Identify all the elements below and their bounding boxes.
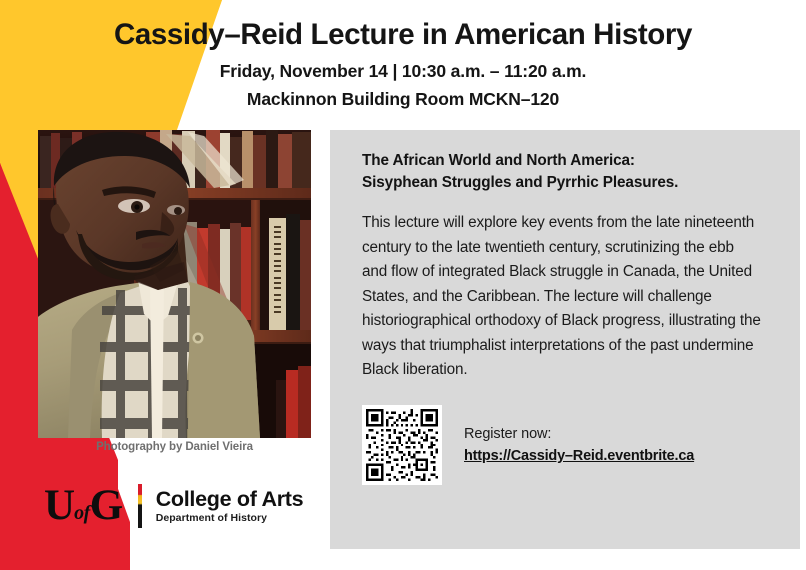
registration-row: Register now: https://Cassidy–Reid.event… — [362, 405, 776, 485]
speaker-photo-illustration — [38, 130, 311, 438]
lecture-title: The African World and North America: Sis… — [362, 150, 776, 193]
uofg-wordmark-g: G — [90, 482, 122, 529]
event-datetime: Friday, November 14 | 10:30 a.m. – 11:20… — [0, 50, 806, 82]
lecture-description: This lecture will explore key events fro… — [362, 211, 762, 382]
register-link[interactable]: https://Cassidy–Reid.eventbrite.ca — [464, 448, 694, 464]
event-location: Mackinnon Building Room MCKN–120 — [0, 82, 806, 110]
uofg-wordmark-of: of — [74, 502, 90, 524]
lecture-details-panel: The African World and North America: Sis… — [330, 130, 800, 549]
lecture-title-line-1: The African World and North America: — [362, 150, 776, 172]
uofg-wordmark: UofG — [44, 486, 122, 527]
register-label: Register now: — [464, 426, 694, 442]
speaker-photo — [38, 130, 311, 438]
uofg-college-logo: UofG College of Arts Department of Histo… — [44, 484, 303, 528]
college-name: College of Arts — [156, 488, 304, 511]
photo-credit: Photography by Daniel Vieira — [38, 441, 311, 453]
logo-divider-bar — [138, 484, 142, 528]
department-name: Department of History — [156, 512, 304, 524]
qr-code-icon[interactable] — [362, 405, 442, 485]
uofg-wordmark-u: U — [44, 482, 74, 529]
page-title: Cassidy–Reid Lecture in American History — [0, 0, 806, 50]
lecture-title-line-2: Sisyphean Struggles and Pyrrhic Pleasure… — [362, 172, 776, 194]
poster-header: Cassidy–Reid Lecture in American History… — [0, 0, 806, 120]
event-poster: Cassidy–Reid Lecture in American History… — [0, 0, 806, 570]
